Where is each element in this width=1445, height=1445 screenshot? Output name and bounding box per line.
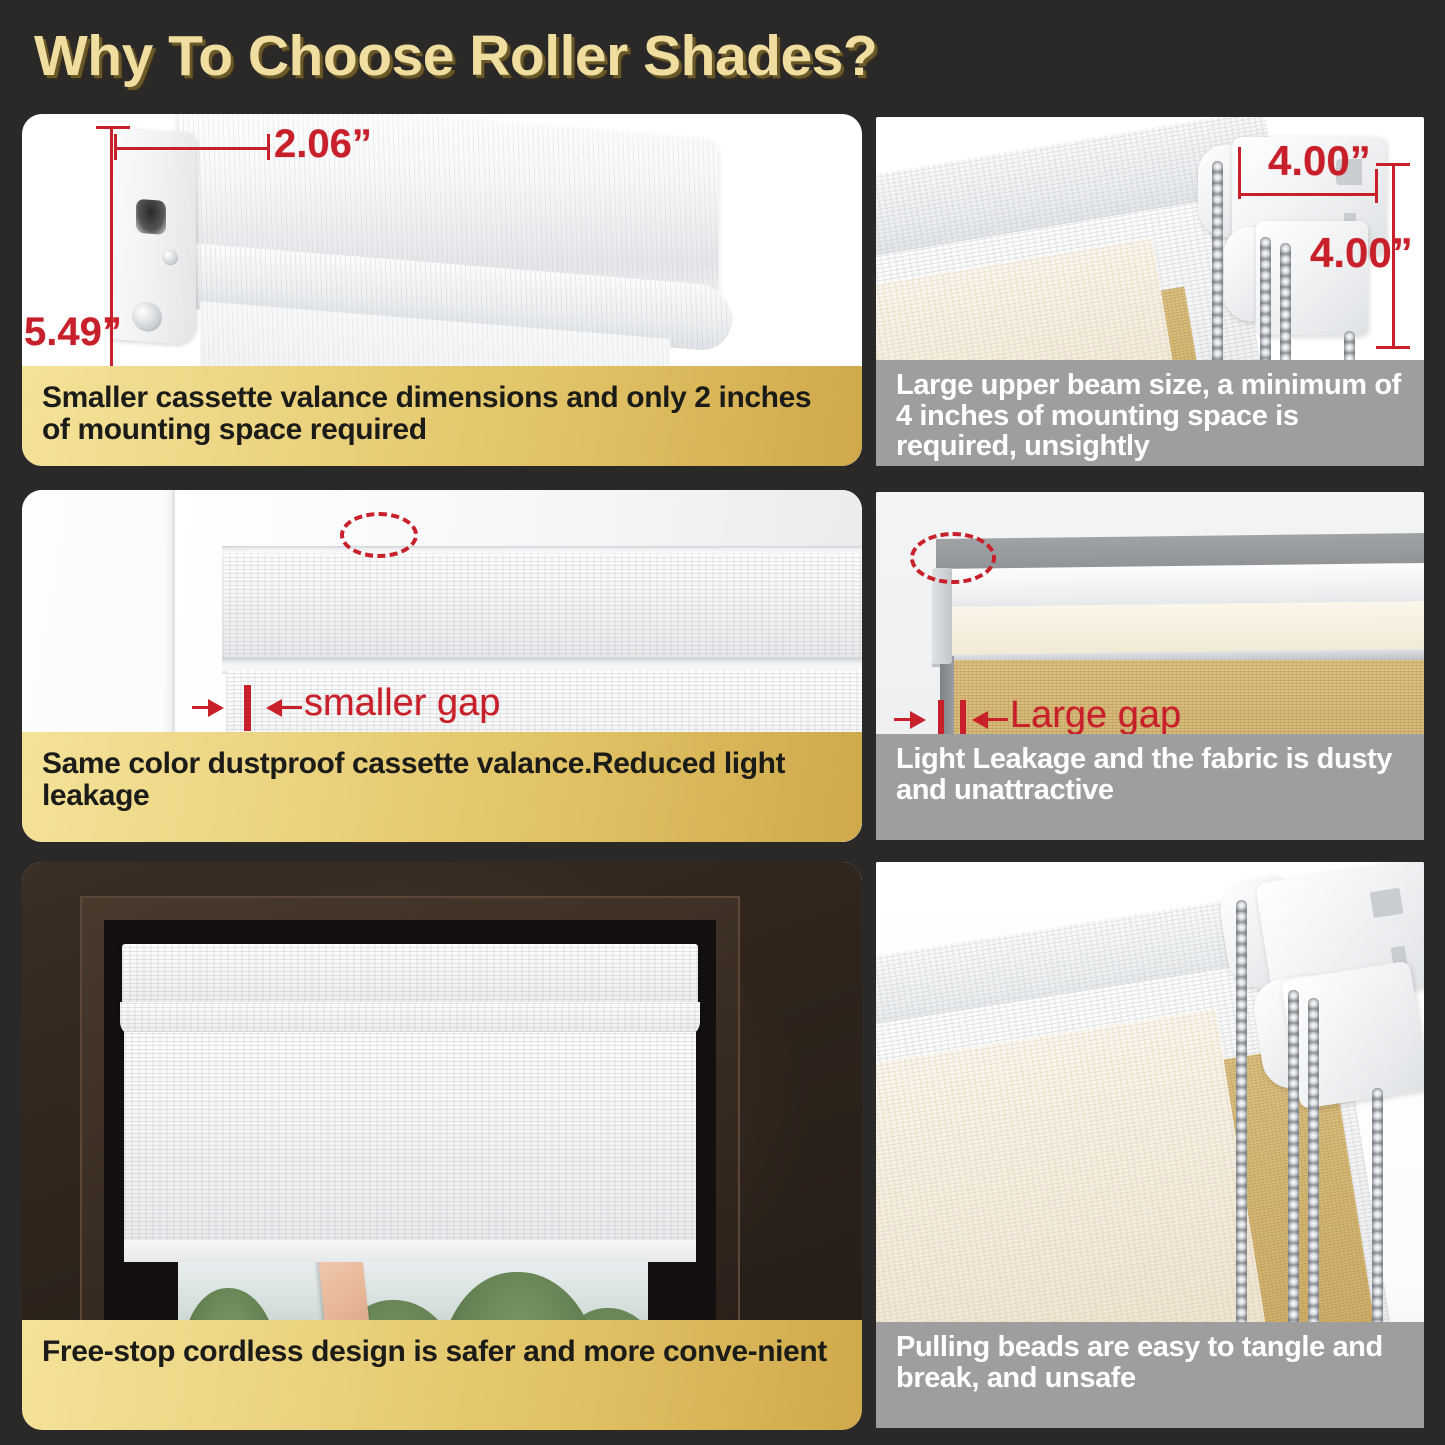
bracket-hole: [136, 199, 166, 235]
panel-large-gap-light-leakage: Large gap Light Leakage and the fabric i…: [876, 492, 1424, 840]
window-glass: [178, 1262, 648, 1324]
beam-width-dimension-label: 4.00”: [1268, 137, 1371, 185]
bracket-slot-top: [1370, 888, 1404, 918]
gap-arrow-right: [266, 699, 282, 717]
caption-smaller-gap-dustproof: Same color dustproof cassette valance.Re…: [22, 732, 862, 842]
tree-outside: [440, 1272, 600, 1324]
shade-bottom-rail: [124, 1240, 696, 1262]
bead-chain-middle-2: [1308, 998, 1319, 1350]
beam-width-dimension-line: [1238, 193, 1378, 196]
bracket-screw-lower: [132, 301, 162, 333]
bracket-screw-upper: [162, 249, 178, 266]
gap-arrow-left-tail: [894, 718, 914, 721]
width-dimension-label: 2.06”: [274, 122, 372, 167]
caption-large-gap-light-leakage: Light Leakage and the fabric is dusty an…: [876, 734, 1424, 840]
gap-arrow-right-tail: [988, 718, 1008, 721]
panel-smaller-gap-dustproof: smaller gap Same color dustproof cassett…: [22, 490, 862, 842]
gap-highlight-ellipse: [910, 532, 996, 584]
beam-cream-band: [934, 601, 1424, 655]
width-dimension-line: [114, 147, 270, 150]
panel-free-stop-cordless: Free-stop cordless design is safer and m…: [22, 862, 862, 1430]
beam-height-dimension-label: 4.00”: [1310, 229, 1413, 277]
cassette-valance-face: [222, 554, 862, 658]
gap-arrow-right-tail: [282, 706, 302, 709]
tree-outside: [182, 1288, 278, 1324]
caption-free-stop-cordless: Free-stop cordless design is safer and m…: [22, 1320, 862, 1430]
caption-large-upper-beam: Large upper beam size, a minimum of 4 in…: [876, 360, 1424, 466]
mounting-bracket-plate-lower: [1281, 961, 1424, 1110]
gap-arrow-right: [972, 711, 988, 729]
valance-end-bracket: [110, 127, 196, 345]
beam-height-tick-bottom: [1376, 346, 1410, 349]
smaller-gap-label: smaller gap: [304, 682, 500, 725]
beam-height-tick-top: [1376, 163, 1410, 166]
panel-pulling-beads-unsafe: Pulling beads are easy to tangle and bre…: [876, 862, 1424, 1428]
gap-arrow-left-tail: [192, 706, 212, 709]
caption-pulling-beads-unsafe: Pulling beads are easy to tangle and bre…: [876, 1322, 1424, 1428]
bead-chain-right: [1372, 1088, 1383, 1350]
caption-cassette-valance-dimensions: Smaller cassette valance dimensions and …: [22, 366, 862, 466]
gap-marker-bar: [244, 685, 251, 731]
beam-width-tick-right: [1375, 169, 1378, 203]
height-dimension-tick-top: [96, 126, 130, 129]
roller-shade-fabric: [124, 1032, 696, 1254]
cassette-valance-lip: [120, 1002, 700, 1036]
window-frame: [80, 896, 740, 1326]
comparison-grid: 2.06” 5.49” Smaller cassette valance dim…: [0, 0, 1445, 1445]
width-dimension-tick-right: [267, 134, 270, 160]
large-gap-label: Large gap: [1010, 694, 1181, 737]
panel-cassette-valance-dimensions: 2.06” 5.49” Smaller cassette valance dim…: [22, 114, 862, 466]
beam-width-tick-left: [1238, 147, 1241, 199]
width-dimension-tick-left: [114, 134, 117, 160]
height-dimension-label: 5.49”: [24, 310, 122, 355]
window-opening: [104, 920, 716, 1324]
gap-highlight-ellipse: [340, 512, 418, 558]
bead-chain-middle: [1288, 990, 1299, 1350]
bead-chain-left: [1236, 900, 1247, 1350]
panel-large-upper-beam: 4.00” 4.00” Large upper beam size, a min…: [876, 117, 1424, 466]
